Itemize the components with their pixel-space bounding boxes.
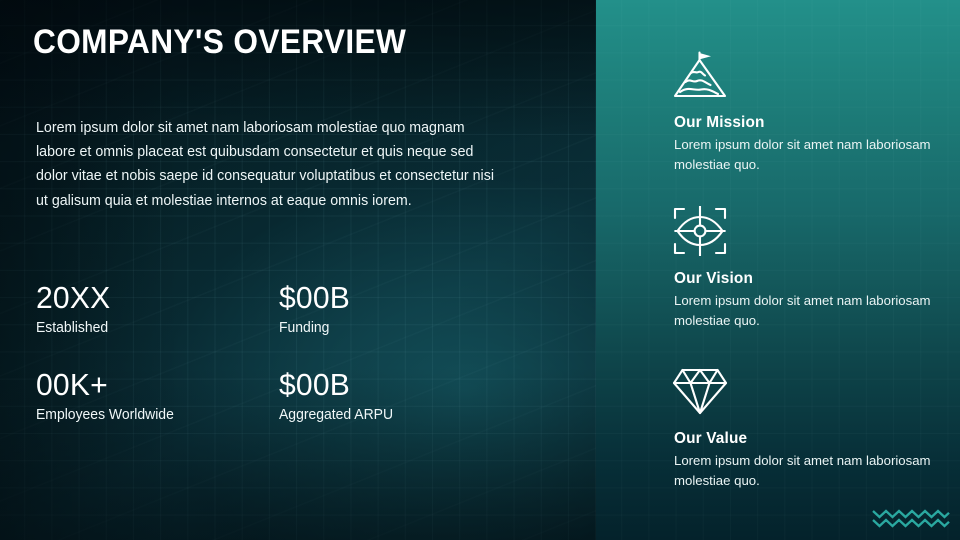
feature-item-vision: Our Vision Lorem ipsum dolor sit amet na…: [674, 206, 960, 330]
feature-description: Lorem ipsum dolor sit amet nam laboriosa…: [674, 135, 960, 174]
feature-title: Our Value: [674, 430, 960, 448]
feature-description: Lorem ipsum dolor sit amet nam laboriosa…: [674, 451, 960, 490]
feature-item-mission: Our Mission Lorem ipsum dolor sit amet n…: [674, 50, 960, 174]
wave-lines-decoration: [872, 505, 950, 536]
mountain-flag-icon: [672, 50, 960, 105]
feature-title: Our Mission: [674, 114, 960, 132]
slide-canvas: COMPANY'S OVERVIEW Lorem ipsum dolor sit…: [0, 0, 960, 540]
feature-item-value: Our Value Lorem ipsum dolor sit amet nam…: [674, 366, 960, 490]
feature-title: Our Vision: [674, 270, 960, 288]
feature-description: Lorem ipsum dolor sit amet nam laboriosa…: [674, 291, 960, 330]
features-group: Our Mission Lorem ipsum dolor sit amet n…: [0, 0, 960, 540]
diamond-icon: [672, 366, 960, 421]
eye-target-icon: [672, 206, 960, 261]
